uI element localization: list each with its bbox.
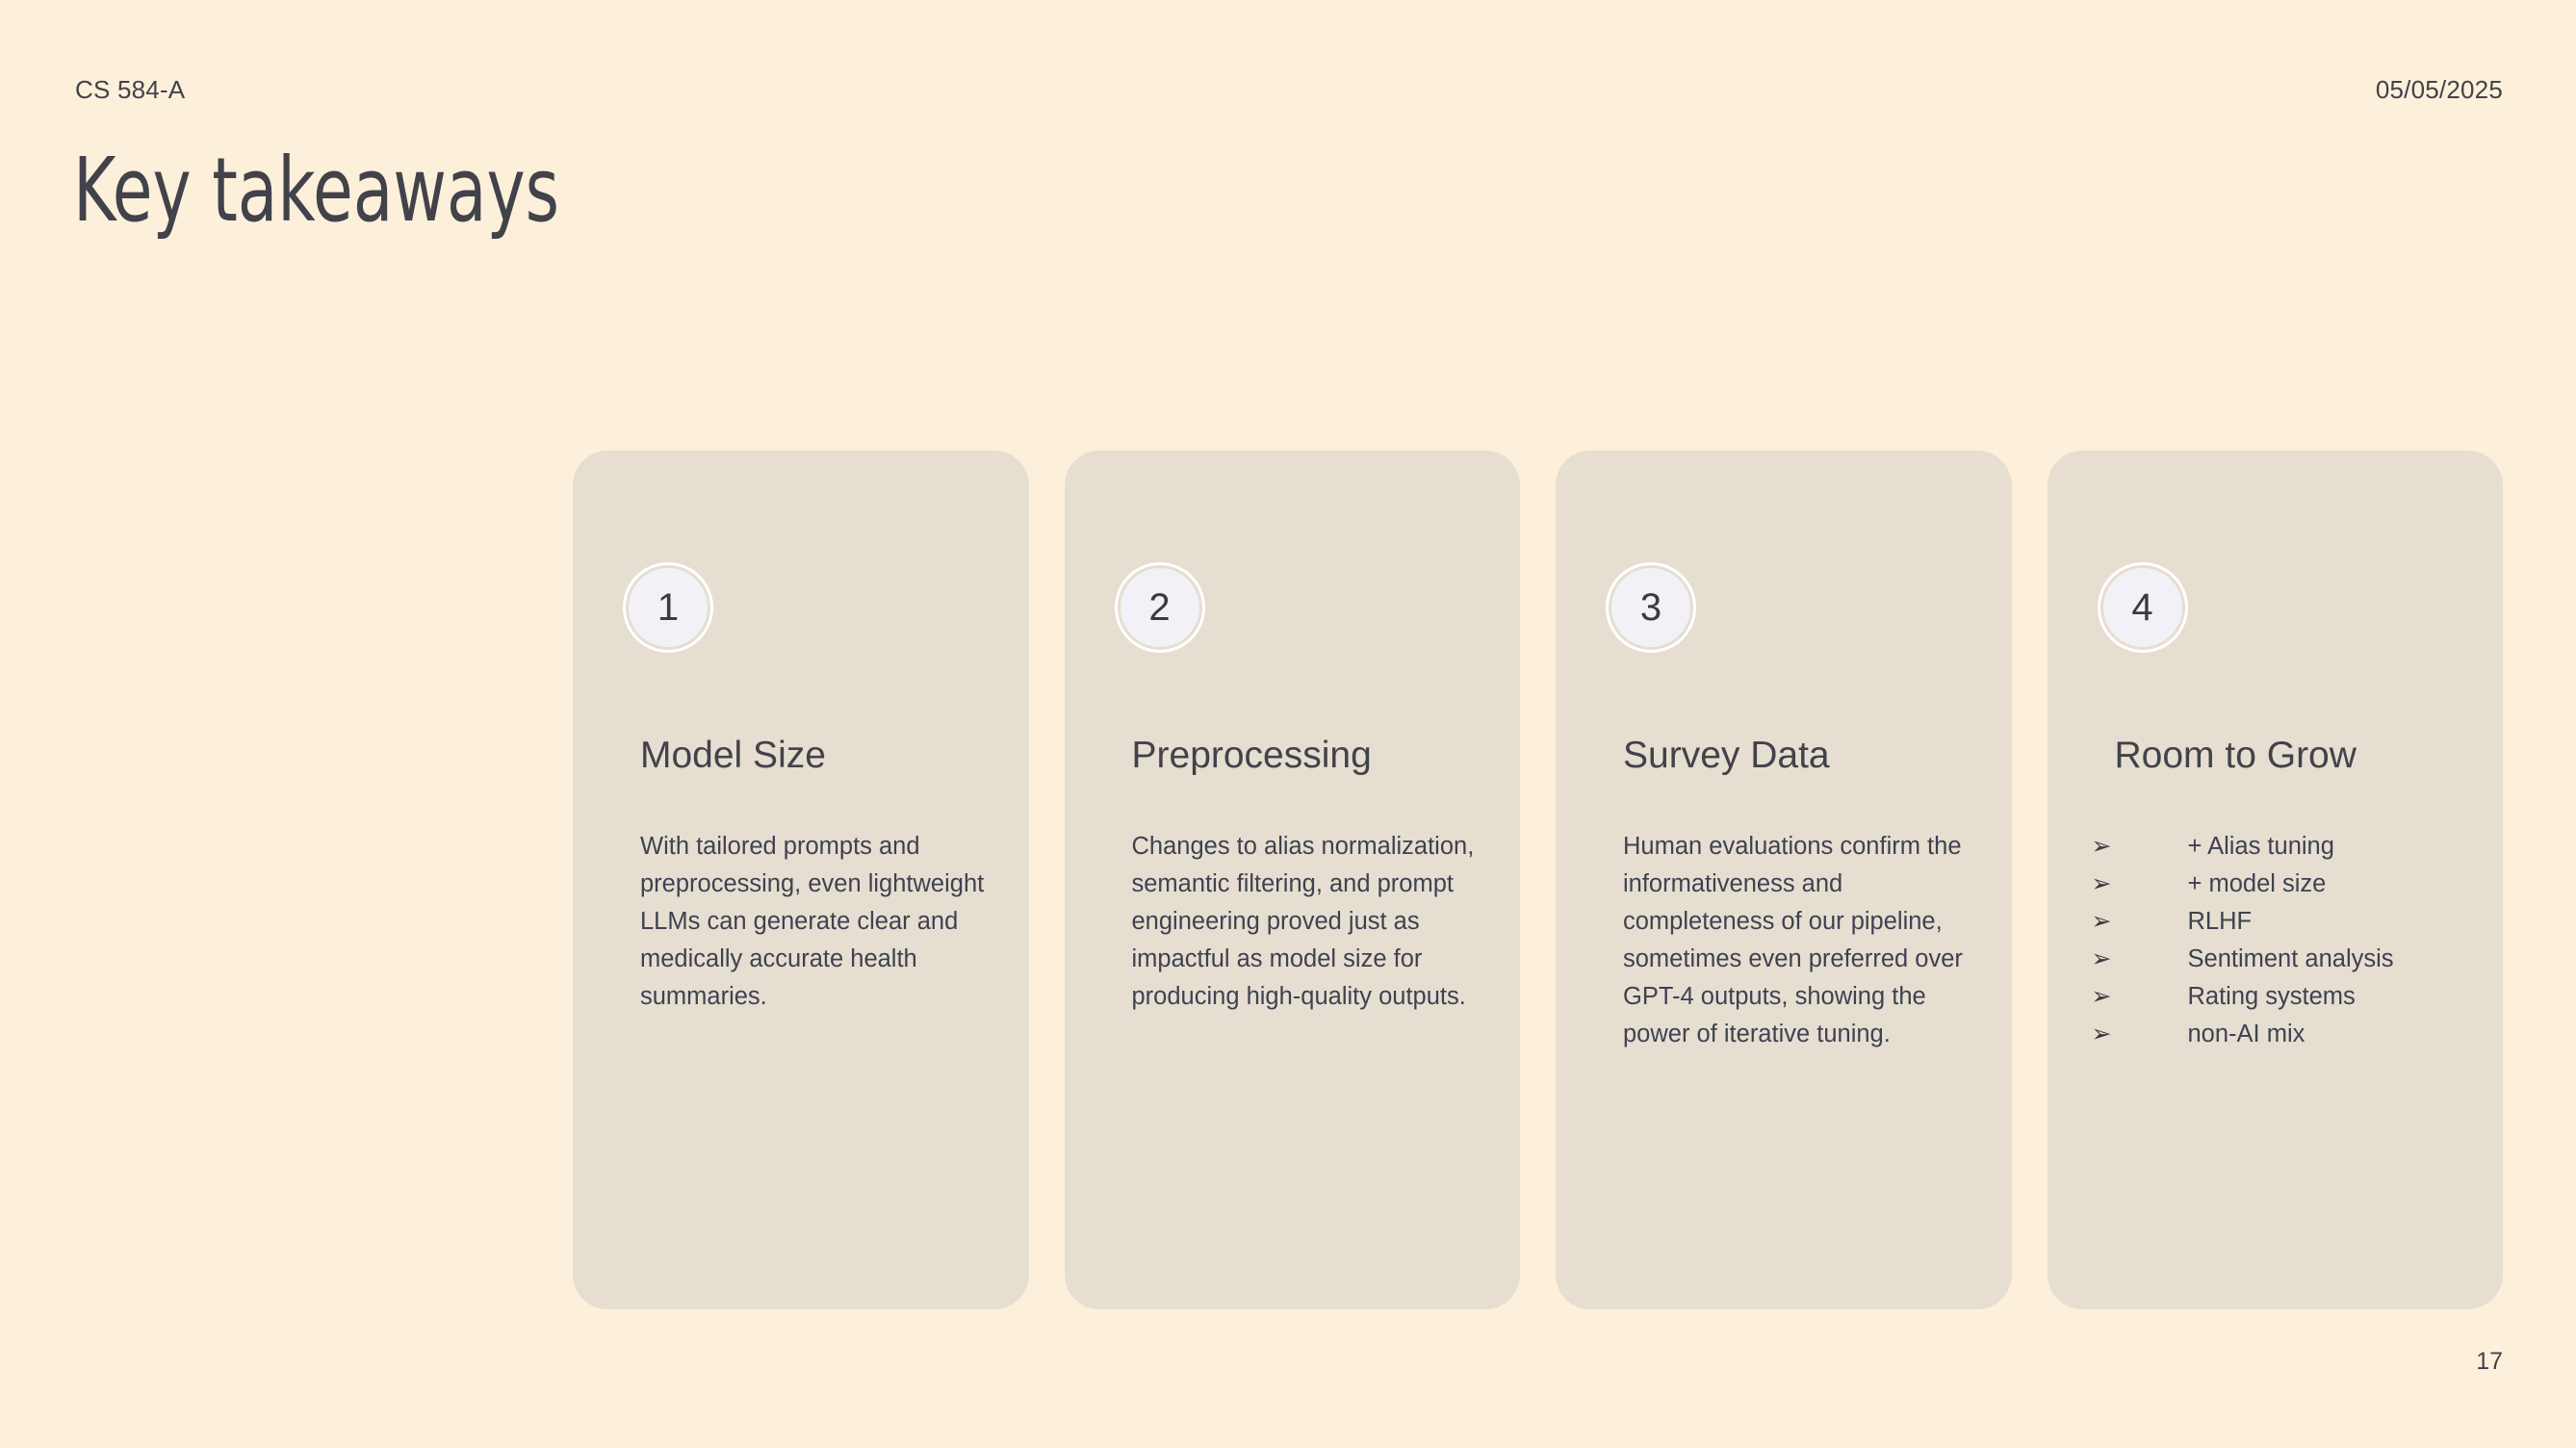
arrow-bullet-icon: ➢ (2092, 1016, 2188, 1053)
step-number-badge-3: 3 (1611, 568, 1690, 647)
card-title-1: Model Size (640, 735, 1000, 777)
future-work-list: ➢+ Alias tuning➢+ model size➢RLHF➢Sentim… (2092, 828, 2485, 1053)
card-title-3: Survey Data (1623, 735, 1983, 777)
arrow-bullet-icon: ➢ (2092, 828, 2188, 866)
takeaway-card-3[interactable]: 3 Survey Data Human evaluations confirm … (1556, 451, 2012, 1309)
date-label: 05/05/2025 (2376, 75, 2503, 105)
list-item: ➢non-AI mix (2092, 1016, 2485, 1053)
page-number: 17 (2476, 1348, 2503, 1376)
list-item: ➢Sentiment analysis (2092, 941, 2485, 978)
list-item: ➢+ Alias tuning (2092, 828, 2485, 866)
list-item-label: + Alias tuning (2188, 828, 2485, 866)
card-body-3: Human evaluations confirm the informativ… (1623, 828, 1977, 1053)
takeaway-card-1[interactable]: 1 Model Size With tailored prompts and p… (573, 451, 1029, 1309)
list-item-label: RLHF (2188, 903, 2485, 941)
list-item-label: + model size (2188, 866, 2485, 903)
arrow-bullet-icon: ➢ (2092, 941, 2188, 978)
step-number-badge-4: 4 (2103, 568, 2182, 647)
arrow-bullet-icon: ➢ (2092, 903, 2188, 941)
list-item: ➢+ model size (2092, 866, 2485, 903)
takeaway-card-row: 1 Model Size With tailored prompts and p… (573, 451, 2503, 1309)
step-number-3: 3 (1640, 588, 1662, 627)
step-number-2: 2 (1148, 588, 1170, 627)
list-item-label: non-AI mix (2188, 1016, 2485, 1053)
list-item: ➢RLHF (2092, 903, 2485, 941)
step-number-1: 1 (657, 588, 679, 627)
card-body-2: Changes to alias normalization, semantic… (1132, 828, 1486, 1016)
card-title-2: Preprocessing (1132, 735, 1492, 777)
step-number-badge-2: 2 (1121, 568, 1199, 647)
takeaway-card-4[interactable]: 4 Room to Grow ➢+ Alias tuning➢+ model s… (2048, 451, 2504, 1309)
course-label: CS 584-A (75, 75, 185, 105)
card-title-4: Room to Grow (2115, 735, 2475, 777)
page-title: Key takeaways (73, 141, 559, 241)
step-number-badge-1: 1 (629, 568, 708, 647)
list-item-label: Rating systems (2188, 978, 2485, 1016)
arrow-bullet-icon: ➢ (2092, 978, 2188, 1016)
card-body-1: With tailored prompts and preprocessing,… (640, 828, 994, 1016)
list-item: ➢Rating systems (2092, 978, 2485, 1016)
arrow-bullet-icon: ➢ (2092, 866, 2188, 903)
list-item-label: Sentiment analysis (2188, 941, 2485, 978)
takeaway-card-2[interactable]: 2 Preprocessing Changes to alias normali… (1065, 451, 1521, 1309)
step-number-4: 4 (2131, 588, 2152, 627)
slide-canvas: CS 584-A 05/05/2025 Key takeaways 1 Mode… (0, 0, 2576, 1448)
